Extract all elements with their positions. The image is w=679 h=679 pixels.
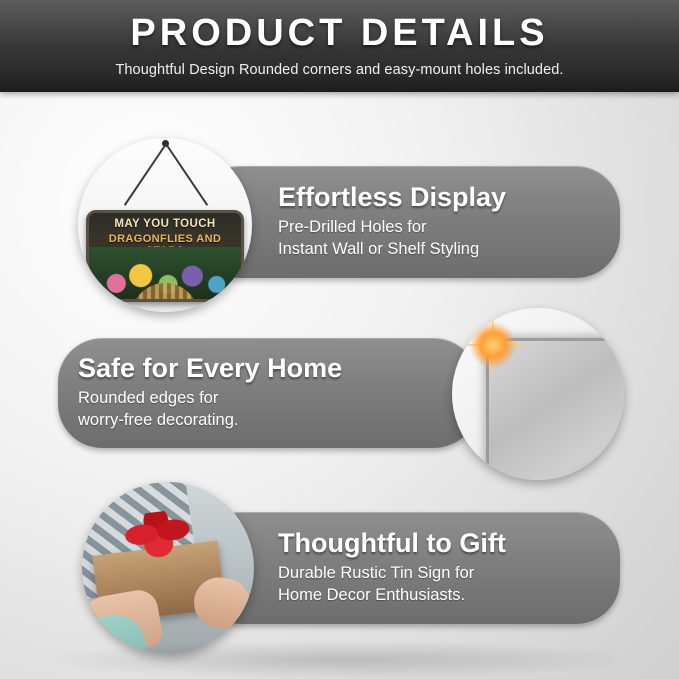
round-dragonfly-sign-photo: MAY YOU TOUCH DRAGONFLIES AND STARS	[78, 138, 252, 312]
feature-3-pill: Thoughtful to Gift Durable Rustic Tin Si…	[196, 512, 620, 624]
feature-1-pill: Effortless Display Pre-Drilled Holes for…	[196, 166, 620, 278]
feature-1-title: Effortless Display	[278, 183, 602, 211]
feature-2-pill: Safe for Every Home Rounded edges for wo…	[58, 338, 478, 448]
product-details-infographic: PRODUCT DETAILS Thoughtful Design Rounde…	[0, 0, 679, 679]
header-banner: PRODUCT DETAILS Thoughtful Design Rounde…	[0, 0, 679, 92]
feature-1-body-line1: Pre-Drilled Holes for	[278, 217, 602, 239]
round-sign-face: MAY YOU TOUCH DRAGONFLIES AND STARS	[86, 210, 244, 302]
rounded-corner-closeup-photo	[452, 308, 624, 480]
gift-box-hands-photo	[82, 482, 254, 654]
feature-3-body-line2: Home Decor Enthusiasts.	[278, 585, 602, 607]
page-subtitle: Thoughtful Design Rounded corners and ea…	[0, 62, 679, 78]
corner-glow	[470, 322, 516, 368]
red-bow-icon	[119, 508, 197, 568]
feature-2-body-line2: worry-free decorating.	[78, 410, 388, 432]
feature-1-body-line2: Instant Wall or Shelf Styling	[278, 239, 602, 261]
feature-3-body-line1: Durable Rustic Tin Sign for	[278, 563, 602, 585]
bottom-shadow	[40, 640, 640, 679]
feature-2-body-line1: Rounded edges for	[78, 388, 388, 410]
feature-2-title: Safe for Every Home	[78, 354, 388, 382]
feature-3-title: Thoughtful to Gift	[278, 529, 602, 557]
sign-caption-line1: MAY YOU TOUCH	[89, 218, 241, 230]
page-title: PRODUCT DETAILS	[0, 12, 679, 55]
